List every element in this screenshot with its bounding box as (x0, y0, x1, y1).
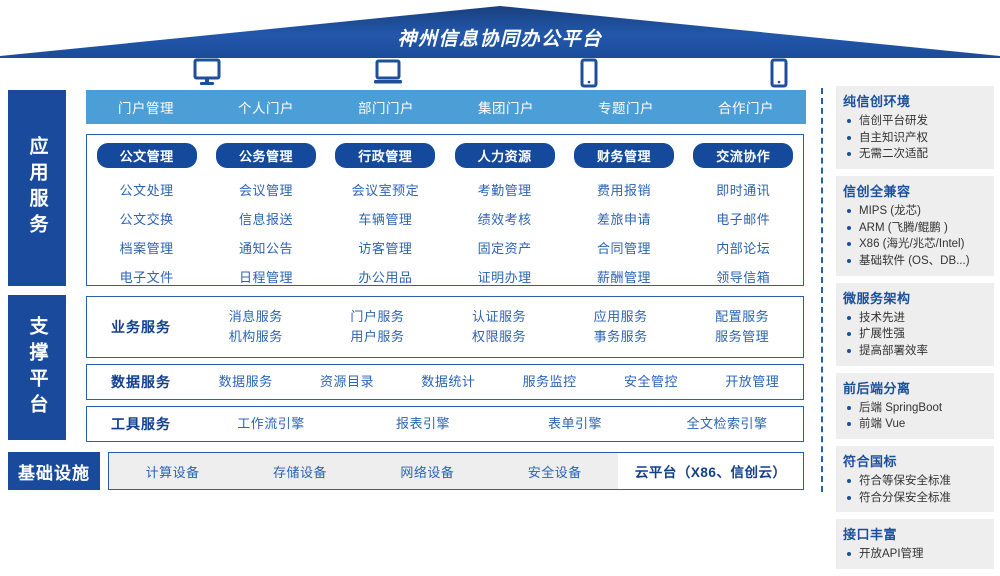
bullet-icon (847, 406, 851, 410)
feature-panel-item-label: 后端 SpringBoot (859, 402, 942, 414)
feature-panel-item: 技术先进 (843, 310, 987, 327)
rail-application-services: 应用服务 (8, 90, 66, 286)
feature-panel-title: 前后端分离 (843, 378, 987, 397)
feature-panel-item: 符合分保安全标准 (843, 490, 987, 507)
tool-service-item-wrap: 报表引擎 (347, 414, 499, 434)
data-service-item[interactable]: 服务监控 (523, 372, 577, 392)
infrastructure-cloud-platform[interactable]: 云平台（X86、信创云） (618, 453, 803, 489)
tool-services-label: 工具服务 (87, 414, 195, 434)
feature-panel-list: 信创平台研发自主知识产权无需二次适配 (843, 113, 987, 163)
feature-panel-item: 开放API管理 (843, 546, 987, 563)
business-service-item[interactable]: 事务服务 (594, 327, 648, 347)
application-service-title[interactable]: 公文管理 (97, 143, 197, 168)
tool-service-item[interactable]: 报表引擎 (396, 414, 450, 434)
application-service-item[interactable]: 合同管理 (597, 238, 651, 257)
infrastructure-item[interactable]: 网络设备 (364, 462, 491, 481)
page-title: 神州信息协同办公平台 (0, 24, 1000, 51)
business-service-item[interactable]: 机构服务 (229, 327, 283, 347)
rail-support-platform-label: 支撑平台 (24, 316, 51, 420)
application-service-item[interactable]: 证明办理 (478, 267, 532, 286)
feature-panel-list: 开放API管理 (843, 546, 987, 563)
business-service-column: 配置服务服务管理 (681, 307, 803, 347)
application-service-item[interactable]: 即时通讯 (716, 180, 770, 199)
application-service-title[interactable]: 人力资源 (455, 143, 555, 168)
tool-service-item[interactable]: 全文检索引擎 (686, 414, 767, 434)
data-service-item[interactable]: 数据服务 (219, 372, 273, 392)
data-service-item[interactable]: 数据统计 (421, 372, 475, 392)
application-service-item[interactable]: 公文处理 (120, 180, 174, 199)
feature-panel-item-label: 符合分保安全标准 (859, 492, 951, 504)
application-service-item[interactable]: 档案管理 (120, 238, 174, 257)
feature-panel-item: 后端 SpringBoot (843, 400, 987, 417)
data-service-item[interactable]: 安全管控 (624, 372, 678, 392)
smartphone-icon (770, 58, 788, 88)
bullet-icon (847, 152, 851, 156)
feature-panel-item-label: MIPS (龙芯) (859, 205, 921, 217)
feature-panel-item: 基础软件 (OS、DB...) (843, 253, 987, 270)
application-service-item[interactable]: 电子邮件 (716, 209, 770, 228)
application-service-item[interactable]: 会议室预定 (352, 180, 420, 199)
tool-service-item-wrap: 工作流引擎 (195, 414, 347, 434)
feature-panel-item: X86 (海光/兆芯/Intel) (843, 236, 987, 253)
portal-item[interactable]: 集团门户 (446, 97, 566, 117)
application-services-panel: 公文管理公文处理公文交换档案管理电子文件公务管理会议管理信息报送通知公告日程管理… (86, 134, 804, 286)
tablet-icon (580, 58, 598, 88)
application-service-item[interactable]: 车辆管理 (358, 209, 412, 228)
application-service-item[interactable]: 领导信箱 (716, 267, 770, 286)
data-service-item-wrap: 资源目录 (296, 372, 397, 392)
feature-panel-item-label: 技术先进 (859, 312, 905, 324)
feature-panel: 微服务架构技术先进扩展性强提高部署效率 (836, 283, 994, 366)
bullet-icon (847, 242, 851, 246)
portal-item[interactable]: 合作门户 (686, 97, 806, 117)
application-service-item[interactable]: 固定资产 (478, 238, 532, 257)
business-service-item[interactable]: 门户服务 (350, 307, 404, 327)
feature-panel-item: ARM (飞腾/鲲鹏 ) (843, 220, 987, 237)
feature-panel-item-label: 信创平台研发 (859, 115, 928, 127)
feature-panel-item: 信创平台研发 (843, 113, 987, 130)
business-service-item[interactable]: 配置服务 (715, 307, 769, 327)
feature-panel-item-label: 符合等保安全标准 (859, 475, 951, 487)
application-service-item[interactable]: 费用报销 (597, 180, 651, 199)
application-service-column: 人力资源考勤管理绩效考核固定资产证明办理 (445, 143, 564, 285)
application-service-title[interactable]: 公务管理 (216, 143, 316, 168)
data-services-label: 数据服务 (87, 372, 195, 392)
feature-panel-item-label: 提高部署效率 (859, 345, 928, 357)
business-service-item[interactable]: 权限服务 (472, 327, 526, 347)
application-service-title[interactable]: 行政管理 (335, 143, 435, 168)
feature-panel: 接口丰富开放API管理 (836, 519, 994, 569)
feature-panel-item: MIPS (龙芯) (843, 203, 987, 220)
feature-panel-item: 提高部署效率 (843, 343, 987, 360)
infrastructure-item[interactable]: 安全设备 (491, 462, 618, 481)
laptop-icon (373, 58, 403, 88)
data-service-item-wrap: 服务监控 (499, 372, 600, 392)
data-services-row: 数据服务 数据服务资源目录数据统计服务监控安全管控开放管理 (86, 364, 804, 400)
tool-services-row: 工具服务 工作流引擎报表引擎表单引擎全文检索引擎 (86, 406, 804, 442)
application-service-item[interactable]: 访客管理 (358, 238, 412, 257)
rail-application-services-label: 应用服务 (24, 136, 51, 240)
device-icon-row (88, 58, 806, 90)
application-service-title[interactable]: 交流协作 (693, 143, 793, 168)
feature-panel-list: 技术先进扩展性强提高部署效率 (843, 310, 987, 360)
feature-panel-title: 接口丰富 (843, 524, 987, 543)
application-service-item[interactable]: 会议管理 (239, 180, 293, 199)
business-service-item[interactable]: 服务管理 (715, 327, 769, 347)
feature-panel: 纯信创环境信创平台研发自主知识产权无需二次适配 (836, 86, 994, 169)
business-services-row: 业务服务 消息服务机构服务门户服务用户服务认证服务权限服务应用服务事务服务配置服… (86, 296, 804, 358)
bullet-icon (847, 479, 851, 483)
data-service-item-wrap: 数据统计 (398, 372, 499, 392)
feature-panel-list: 后端 SpringBoot前端 Vue (843, 400, 987, 433)
business-service-column: 应用服务事务服务 (560, 307, 682, 347)
title-banner: 神州信息协同办公平台 (0, 0, 1000, 58)
portal-item[interactable]: 专题门户 (566, 97, 686, 117)
application-service-item[interactable]: 内部论坛 (716, 238, 770, 257)
portal-item[interactable]: 部门门户 (326, 97, 446, 117)
bullet-icon (847, 349, 851, 353)
bullet-icon (847, 422, 851, 426)
business-service-item[interactable]: 认证服务 (472, 307, 526, 327)
data-service-item-wrap: 数据服务 (195, 372, 296, 392)
bullet-icon (847, 136, 851, 140)
feature-panel-list: 符合等保安全标准符合分保安全标准 (843, 473, 987, 506)
feature-panel-item: 扩展性强 (843, 326, 987, 343)
infrastructure-item[interactable]: 存储设备 (236, 462, 363, 481)
application-service-column: 公务管理会议管理信息报送通知公告日程管理 (206, 143, 325, 285)
feature-panel: 前后端分离后端 SpringBoot前端 Vue (836, 373, 994, 439)
portal-bar: 门户管理个人门户部门门户集团门户专题门户合作门户 (86, 90, 806, 124)
feature-panel-item-label: 基础软件 (OS、DB...) (859, 255, 970, 267)
application-service-item[interactable]: 公文交换 (120, 209, 174, 228)
infrastructure-row: 计算设备存储设备网络设备安全设备云平台（X86、信创云） (108, 452, 804, 490)
bullet-icon (847, 552, 851, 556)
feature-panel: 信创全兼容MIPS (龙芯)ARM (飞腾/鲲鹏 )X86 (海光/兆芯/Int… (836, 176, 994, 276)
bullet-icon (847, 496, 851, 500)
feature-panel-item-label: 扩展性强 (859, 328, 905, 340)
feature-panel-title: 微服务架构 (843, 288, 987, 307)
rail-infrastructure: 基础设施 (8, 452, 100, 490)
application-service-item[interactable]: 考勤管理 (478, 180, 532, 199)
tool-service-item[interactable]: 表单引擎 (548, 414, 602, 434)
feature-panel-title: 纯信创环境 (843, 91, 987, 110)
application-service-column: 交流协作即时通讯电子邮件内部论坛领导信箱 (684, 143, 803, 285)
application-service-item[interactable]: 电子文件 (120, 267, 174, 286)
business-service-column: 消息服务机构服务 (195, 307, 317, 347)
feature-panel-item: 自主知识产权 (843, 130, 987, 147)
rail-support-platform: 支撑平台 (8, 295, 66, 440)
portal-item[interactable]: 个人门户 (206, 97, 326, 117)
tool-service-item-wrap: 表单引擎 (499, 414, 651, 434)
application-service-item[interactable]: 信息报送 (239, 209, 293, 228)
application-service-column: 财务管理费用报销差旅申请合同管理薪酬管理 (564, 143, 683, 285)
feature-panel-item-label: X86 (海光/兆芯/Intel) (859, 238, 964, 250)
data-service-item[interactable]: 资源目录 (320, 372, 374, 392)
feature-panel-item-label: 前端 Vue (859, 418, 905, 430)
application-service-item[interactable]: 通知公告 (239, 238, 293, 257)
section-divider (821, 88, 823, 492)
feature-panel-item-label: ARM (飞腾/鲲鹏 ) (859, 222, 948, 234)
desktop-monitor-icon (193, 58, 221, 88)
application-service-item[interactable]: 差旅申请 (597, 209, 651, 228)
application-service-item[interactable]: 办公用品 (358, 267, 412, 286)
business-service-item[interactable]: 用户服务 (350, 327, 404, 347)
application-service-item[interactable]: 绩效考核 (478, 209, 532, 228)
data-service-item-wrap: 开放管理 (702, 372, 803, 392)
feature-panel-item-label: 开放API管理 (859, 548, 924, 560)
feature-panel-item: 无需二次适配 (843, 146, 987, 163)
feature-panel-title: 信创全兼容 (843, 181, 987, 200)
architecture-diagram: 神州信息协同办公平台 (0, 0, 1000, 500)
portal-item[interactable]: 门户管理 (86, 97, 206, 117)
tool-service-item[interactable]: 工作流引擎 (237, 414, 305, 434)
rail-infrastructure-label: 基础设施 (18, 459, 90, 484)
feature-panel-item-label: 自主知识产权 (859, 132, 928, 144)
data-service-item-wrap: 安全管控 (600, 372, 701, 392)
business-service-item[interactable]: 应用服务 (594, 307, 648, 327)
application-service-title[interactable]: 财务管理 (574, 143, 674, 168)
business-service-column: 认证服务权限服务 (438, 307, 560, 347)
feature-panel-item: 前端 Vue (843, 416, 987, 433)
application-service-item[interactable]: 薪酬管理 (597, 267, 651, 286)
feature-panel-title: 符合国标 (843, 451, 987, 470)
application-service-item[interactable]: 日程管理 (239, 267, 293, 286)
feature-panel: 符合国标符合等保安全标准符合分保安全标准 (836, 446, 994, 512)
application-service-column: 公文管理公文处理公文交换档案管理电子文件 (87, 143, 206, 285)
bullet-icon (847, 259, 851, 263)
feature-panel-item: 符合等保安全标准 (843, 473, 987, 490)
business-services-label: 业务服务 (87, 317, 195, 337)
tool-service-item-wrap: 全文检索引擎 (651, 414, 803, 434)
business-service-item[interactable]: 消息服务 (229, 307, 283, 327)
bullet-icon (847, 119, 851, 123)
bullet-icon (847, 226, 851, 230)
data-service-item[interactable]: 开放管理 (725, 372, 779, 392)
application-service-column: 行政管理会议室预定车辆管理访客管理办公用品 (326, 143, 445, 285)
feature-panel-item-label: 无需二次适配 (859, 148, 928, 160)
feature-sidebar: 纯信创环境信创平台研发自主知识产权无需二次适配信创全兼容MIPS (龙芯)ARM… (836, 86, 994, 576)
infrastructure-item[interactable]: 计算设备 (109, 462, 236, 481)
bullet-icon (847, 209, 851, 213)
feature-panel-list: MIPS (龙芯)ARM (飞腾/鲲鹏 )X86 (海光/兆芯/Intel)基础… (843, 203, 987, 270)
bullet-icon (847, 316, 851, 320)
business-service-column: 门户服务用户服务 (317, 307, 439, 347)
bullet-icon (847, 332, 851, 336)
